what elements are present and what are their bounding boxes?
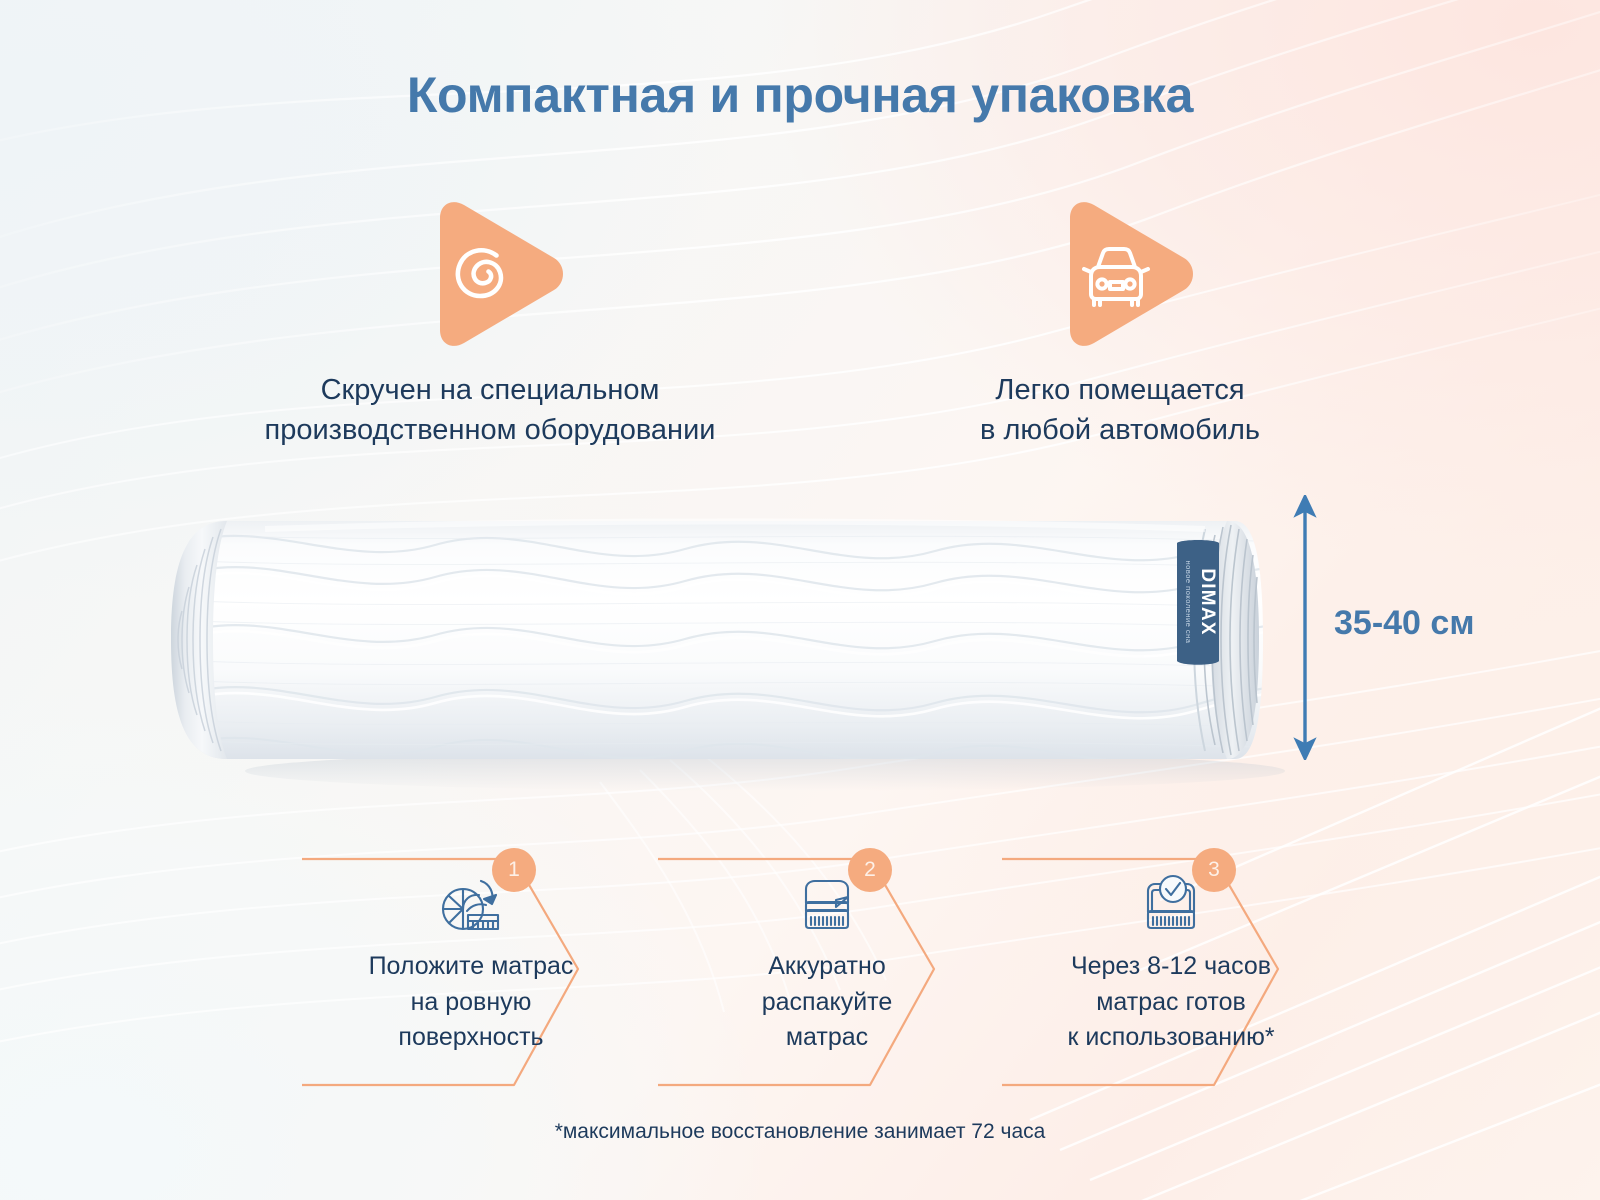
feature-block-car: Легко помещается в любой автомобиль: [840, 196, 1400, 450]
unroll-mattress-icon: [434, 867, 508, 941]
step-description: Аккуратно распакуйте матрас: [762, 949, 893, 1056]
step-card-1: 1 Положите матрас на ровную: [296, 845, 646, 1093]
footnote: *максимальное восстановление занимает 72…: [0, 1120, 1600, 1144]
feature-caption: Легко помещается в любой автомобиль: [840, 370, 1400, 450]
spiral-roll-icon: [410, 196, 570, 352]
brand-label-tagline: новое поколение сна: [1184, 561, 1193, 644]
height-dimension-label: 35-40 см: [1334, 604, 1474, 643]
mattress-ready-check-icon: [1134, 867, 1208, 941]
feature-caption-line2: в любой автомобиль: [840, 410, 1400, 450]
brand-label-name: DIMAX: [1197, 568, 1218, 635]
step-description: Через 8-12 часов матрас готов к использо…: [1067, 949, 1274, 1056]
step-description: Положите матрас на ровную поверхность: [369, 949, 574, 1056]
step-card-3: 3 Через 8-12 часов матрас готов к исполь…: [996, 845, 1346, 1093]
infographic-canvas: Компактная и прочная упаковка Скручен на…: [0, 0, 1600, 1200]
steps-section: 1 Положите матрас на ровную: [296, 845, 1256, 1093]
feature-caption: Скручен на специальном производственном …: [180, 370, 800, 450]
height-dimension-arrow: [1290, 495, 1320, 760]
unpack-mattress-icon: [790, 867, 864, 941]
car-icon: [1040, 196, 1200, 352]
feature-caption-line2: производственном оборудовании: [180, 410, 800, 450]
feature-block-rolled: Скручен на специальном производственном …: [180, 196, 800, 450]
page-title: Компактная и прочная упаковка: [0, 66, 1600, 124]
feature-caption-line1: Скручен на специальном: [180, 370, 800, 410]
step-card-2: 2 Аккуратно распакуйте матрас: [652, 845, 1002, 1093]
feature-caption-line1: Легко помещается: [840, 370, 1400, 410]
brand-label: DIMAX новое поколение сна: [1177, 540, 1219, 665]
rolled-mattress-image: DIMAX новое поколение сна: [155, 485, 1295, 795]
